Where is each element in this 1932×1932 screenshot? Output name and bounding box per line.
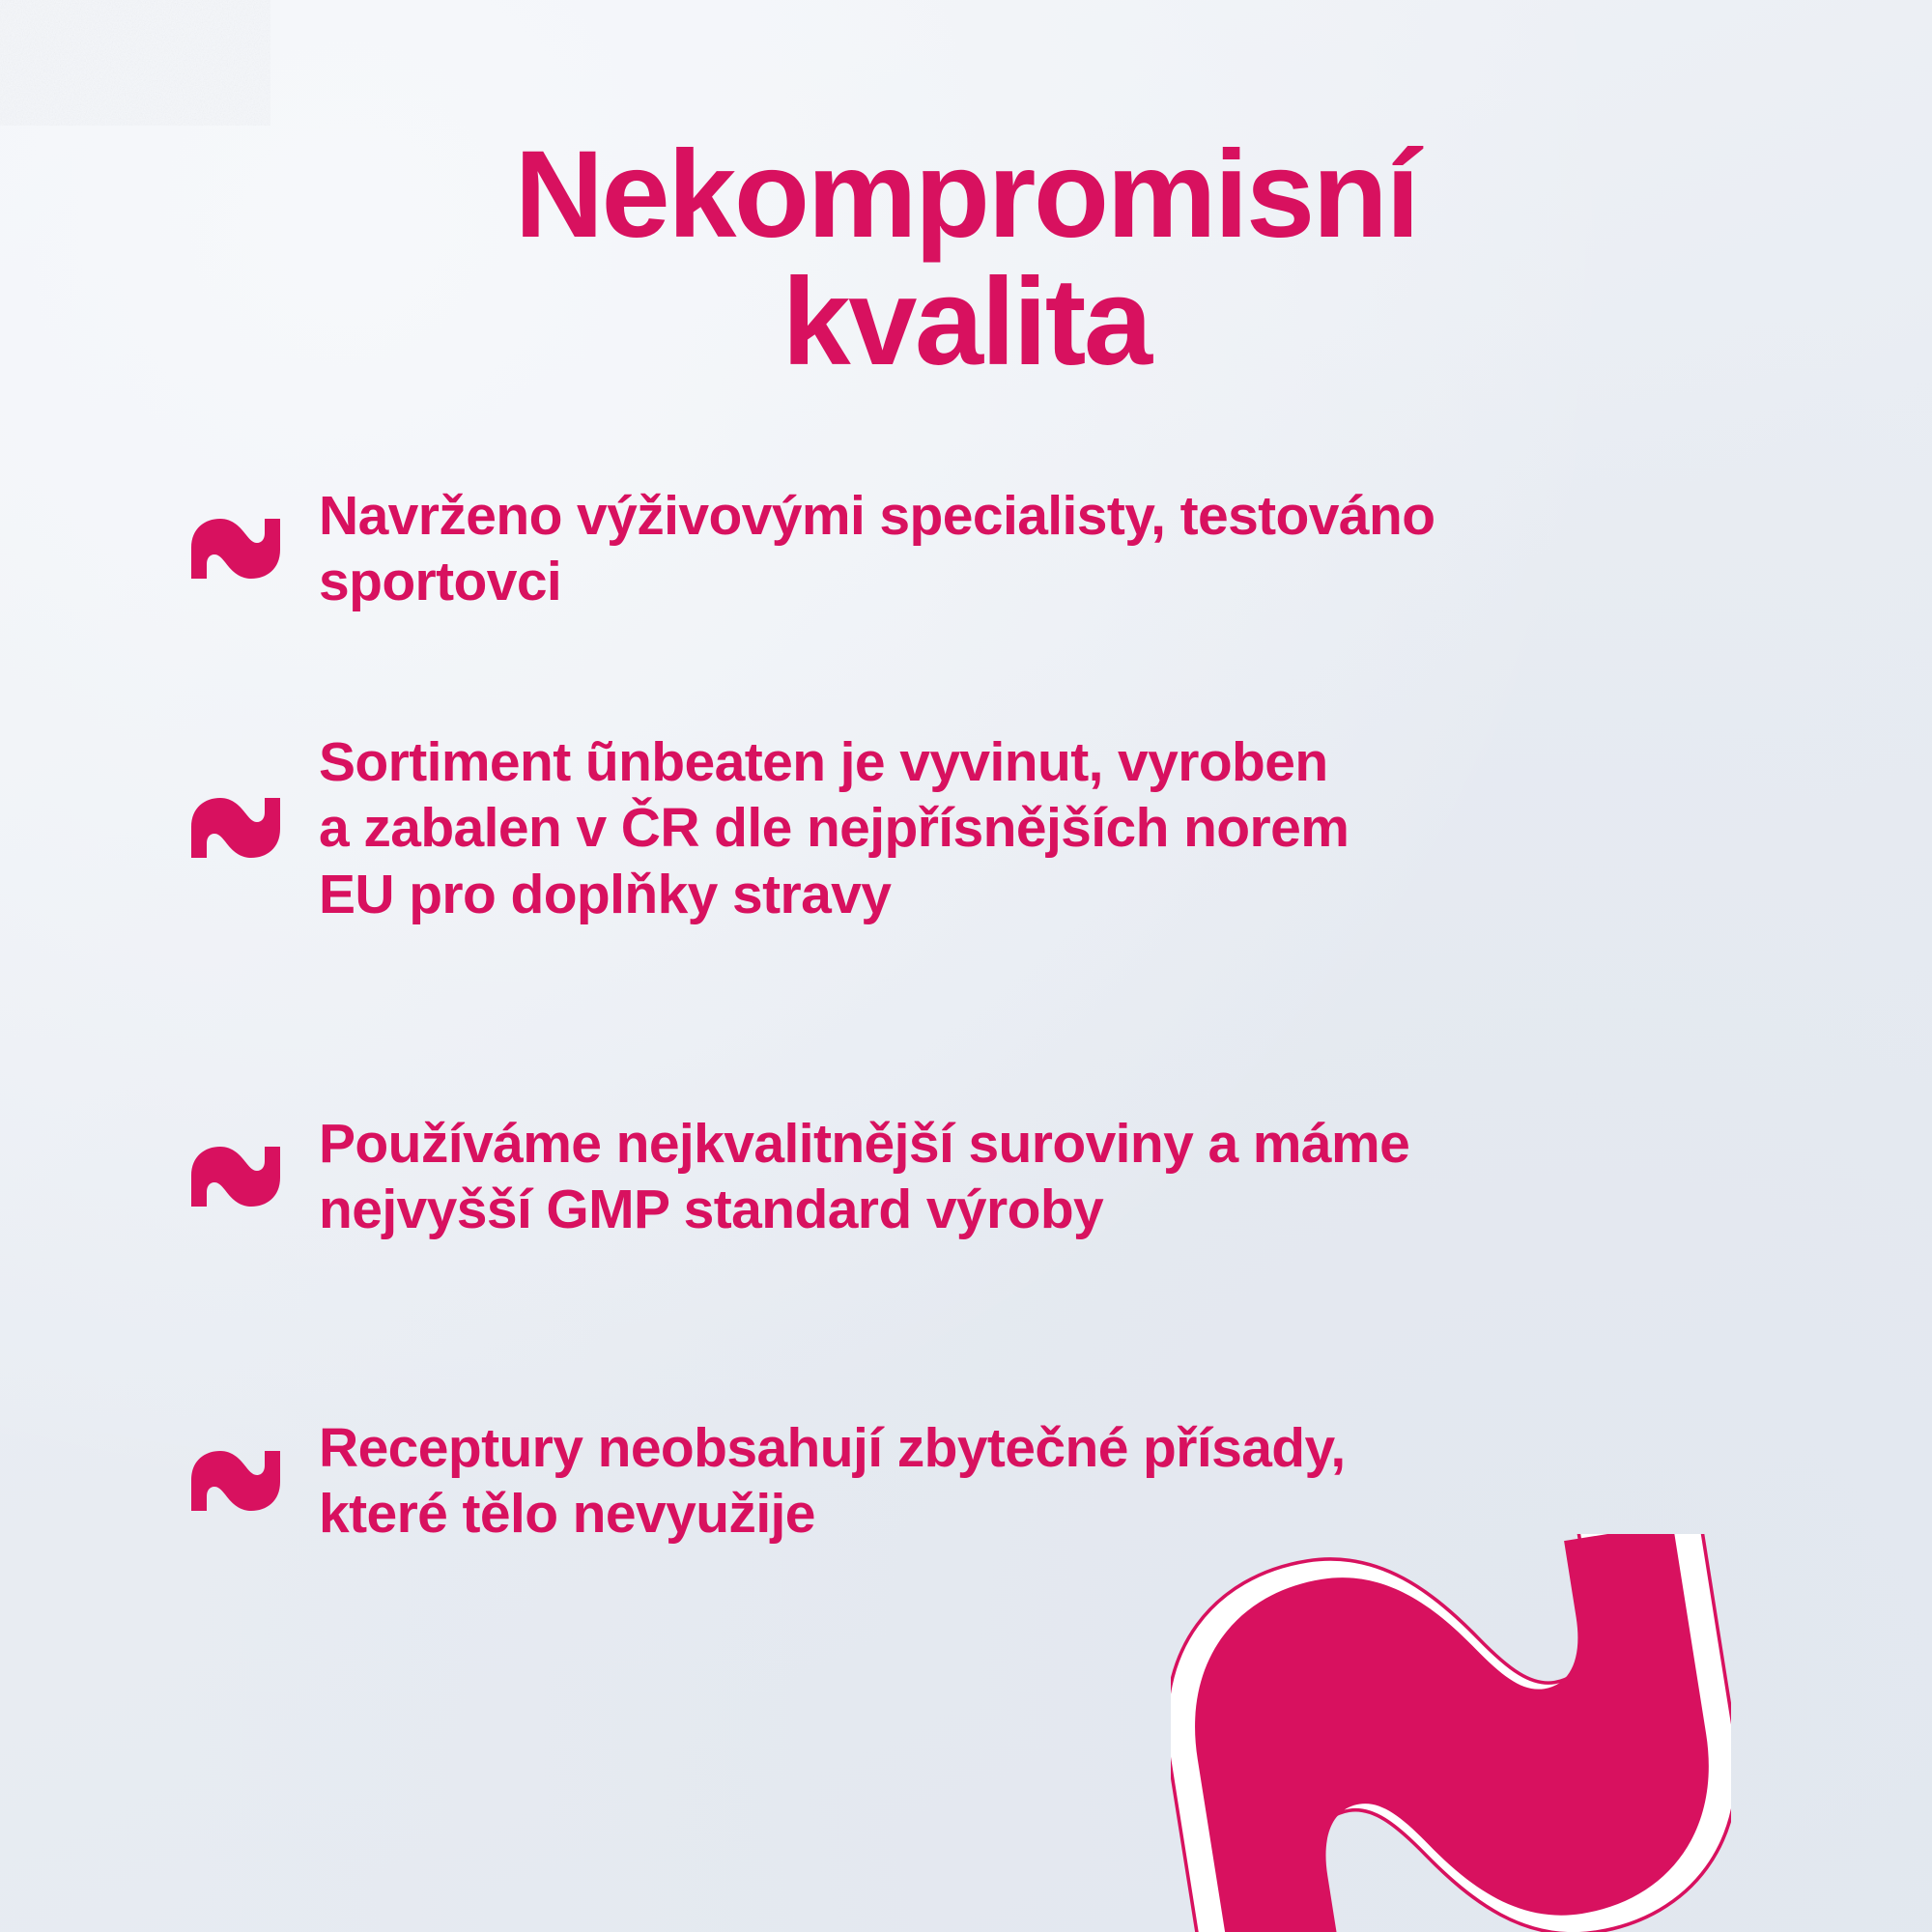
wave-n-icon xyxy=(189,517,282,581)
poster-canvas: Nekompromisní kvalita Navrženo výživovým… xyxy=(0,0,1932,1932)
list-item: Navrženo výživovými specialisty, testová… xyxy=(189,483,1851,615)
brand-logo xyxy=(1171,1534,1731,1932)
wave-n-icon xyxy=(189,796,282,860)
list-item: Používáme nejkvalitnější suroviny a máme… xyxy=(189,1111,1851,1243)
list-item: Sortiment ũnbeaten je vyvinut, vyroben a… xyxy=(189,729,1851,927)
wave-n-icon xyxy=(189,1145,282,1208)
list-item: Receptury neobsahují zbytečné přísady, k… xyxy=(189,1415,1851,1548)
list-item-text: Receptury neobsahují zbytečné přísady, k… xyxy=(319,1415,1346,1548)
benefits-list: Navrženo výživovými specialisty, testová… xyxy=(189,483,1851,1548)
paper-noise-texture xyxy=(0,0,270,126)
wave-n-icon xyxy=(189,1449,282,1513)
list-item-text: Používáme nejkvalitnější suroviny a máme… xyxy=(319,1111,1409,1243)
list-item-text: Sortiment ũnbeaten je vyvinut, vyroben a… xyxy=(319,729,1349,927)
list-item-text: Navrženo výživovými specialisty, testová… xyxy=(319,483,1435,615)
page-title: Nekompromisní kvalita xyxy=(0,131,1932,386)
